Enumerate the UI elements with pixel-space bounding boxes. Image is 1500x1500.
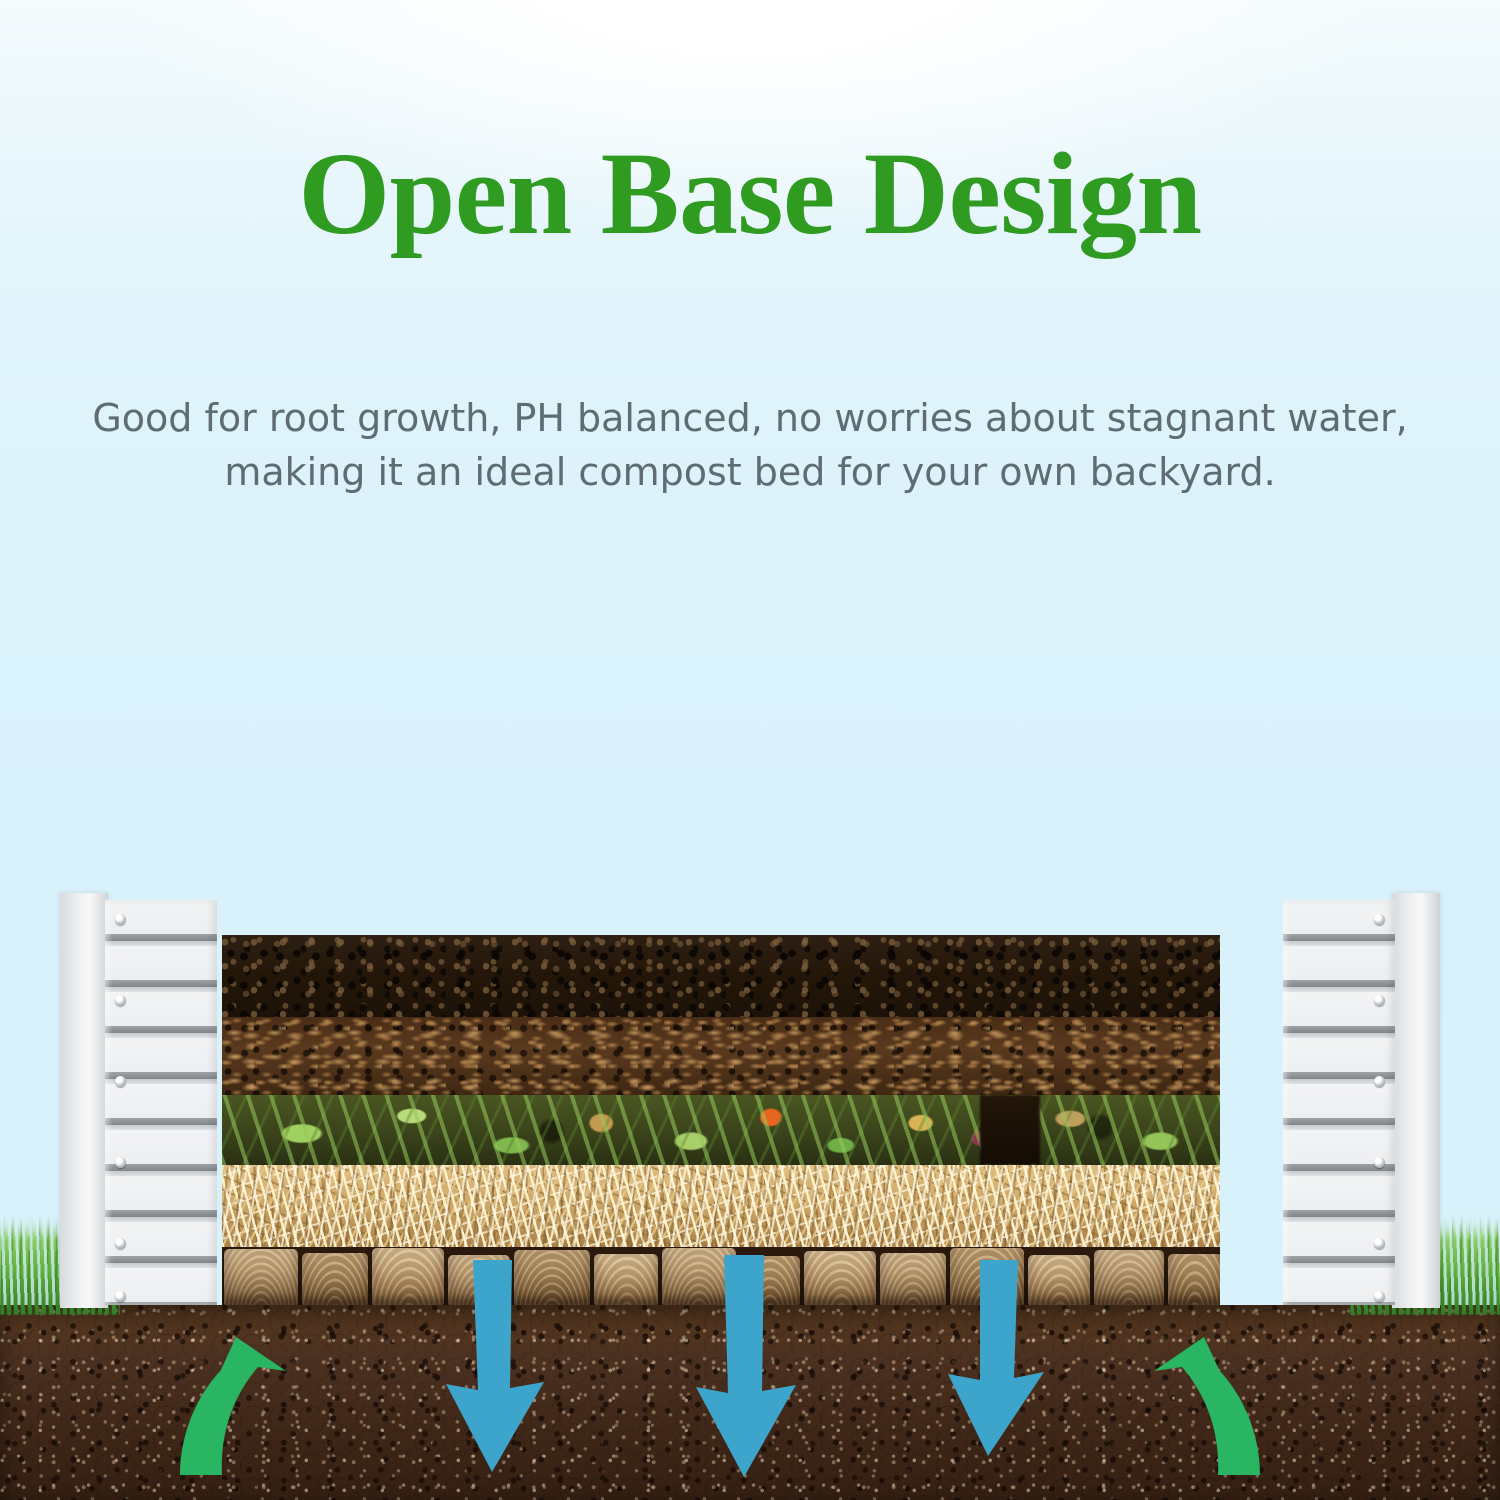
screw-column-right [1283,900,1395,1305]
screw-icon [1374,1291,1385,1302]
corner-post-right [1392,893,1440,1308]
wood-log [372,1248,444,1305]
screw-icon [1374,1238,1385,1249]
screw-icon [115,914,126,925]
product-illustration [0,0,1500,1500]
screw-icon [1374,995,1385,1006]
wood-log [804,1251,876,1305]
screw-icon [1374,1076,1385,1087]
screw-icon [115,1157,126,1168]
screw-icon [115,1076,126,1087]
drainage-down-arrow-3 [940,1260,1050,1460]
vegetable-row [0,620,1500,950]
drainage-down-arrow-1 [440,1260,550,1475]
corner-post-left [60,893,108,1308]
layer-topsoil [222,935,1220,1017]
layer-kitchen-scraps [222,1095,1220,1165]
wood-log [594,1254,658,1305]
layer-compost [222,1017,1220,1095]
screw-icon [1374,914,1385,925]
screw-icon [115,1291,126,1302]
screw-icon [115,1238,126,1249]
layer-straw [222,1165,1220,1247]
airflow-up-arrow-right [1120,1285,1270,1480]
wood-log [880,1253,946,1305]
screw-icon [115,995,126,1006]
airflow-up-arrow-left [170,1285,320,1480]
screw-icon [1374,1157,1385,1168]
screw-column-left [105,900,217,1305]
infographic-canvas: Open Base Design Good for root growth, P… [0,0,1500,1500]
bed-cross-section [222,935,1220,1305]
drainage-down-arrow-2 [690,1255,802,1480]
compost-pocket [980,1095,1040,1165]
